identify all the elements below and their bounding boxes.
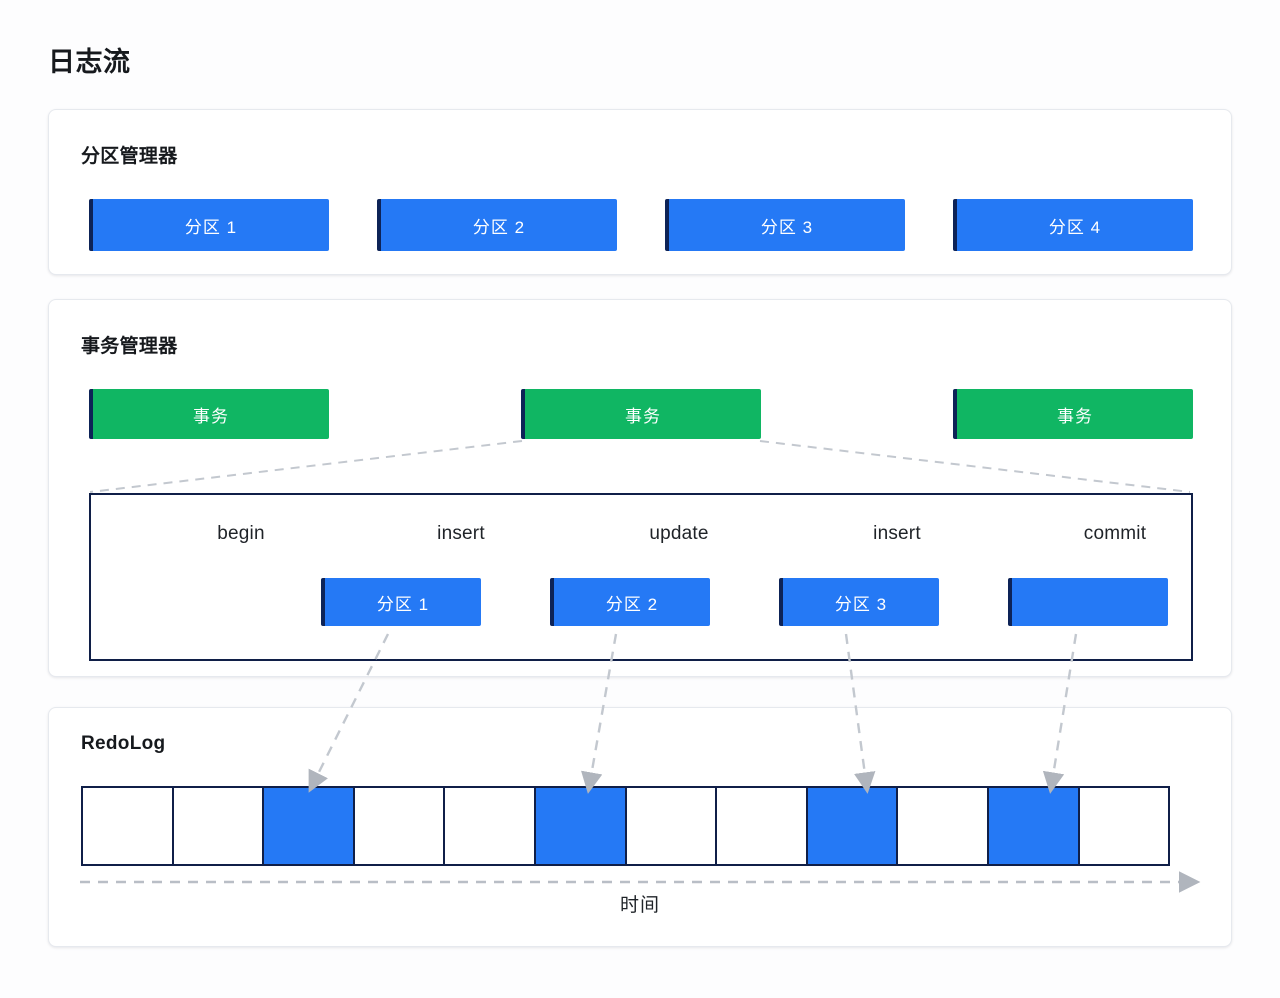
- transaction-box-1-label: 事务: [193, 402, 229, 427]
- partition-box-2-label: 分区 2: [473, 213, 525, 238]
- op-label-insert-2: insert: [787, 523, 1007, 545]
- transaction-box-3[interactable]: 事务: [953, 389, 1193, 439]
- transaction-box-3-label: 事务: [1057, 402, 1093, 427]
- redolog-cell[interactable]: [172, 786, 265, 866]
- redolog-cell[interactable]: [1078, 786, 1171, 866]
- transaction-manager-title: 事务管理器: [81, 331, 178, 358]
- redolog-cell[interactable]: [534, 786, 627, 866]
- redolog-cell[interactable]: [987, 786, 1080, 866]
- transaction-box-2[interactable]: 事务: [521, 389, 761, 439]
- partition-box-1[interactable]: 分区 1: [89, 199, 329, 251]
- op-partition-box-update-label: 分区 2: [606, 590, 658, 615]
- redolog-cell[interactable]: [896, 786, 989, 866]
- partition-manager-title: 分区管理器: [81, 141, 178, 168]
- op-partition-box-insert-2-label: 分区 3: [835, 590, 887, 615]
- op-label-insert-1: insert: [351, 523, 571, 545]
- op-partition-box-update[interactable]: 分区 2: [550, 578, 710, 626]
- partition-manager-card: 分区管理器 分区 1 分区 2 分区 3 分区 4: [48, 109, 1232, 275]
- partition-box-1-label: 分区 1: [185, 213, 237, 238]
- partition-box-3-label: 分区 3: [761, 213, 813, 238]
- redolog-strip: [81, 786, 1168, 866]
- redolog-cell[interactable]: [715, 786, 808, 866]
- transaction-manager-card: 事务管理器 事务 事务 事务 begin insert update inser…: [48, 299, 1232, 677]
- op-label-update: update: [569, 523, 789, 545]
- redolog-cell[interactable]: [806, 786, 899, 866]
- op-label-begin: begin: [131, 523, 351, 545]
- transaction-box-2-label: 事务: [625, 402, 661, 427]
- redolog-title: RedoLog: [81, 733, 165, 755]
- op-label-commit: commit: [1005, 523, 1225, 545]
- op-partition-box-insert-2[interactable]: 分区 3: [779, 578, 939, 626]
- time-axis-label: 时间: [49, 890, 1231, 917]
- partition-box-2[interactable]: 分区 2: [377, 199, 617, 251]
- op-partition-box-insert-1[interactable]: 分区 1: [321, 578, 481, 626]
- redolog-card: RedoLog 时间: [48, 707, 1232, 947]
- partition-box-3[interactable]: 分区 3: [665, 199, 905, 251]
- transaction-box-1[interactable]: 事务: [89, 389, 329, 439]
- redolog-cell[interactable]: [262, 786, 355, 866]
- redolog-cell[interactable]: [625, 786, 718, 866]
- partition-box-4-label: 分区 4: [1049, 213, 1101, 238]
- partition-box-4[interactable]: 分区 4: [953, 199, 1193, 251]
- transaction-detail-panel: begin insert update insert commit 分区 1 分…: [89, 493, 1193, 661]
- op-partition-box-commit[interactable]: [1008, 578, 1168, 626]
- redolog-cell[interactable]: [443, 786, 536, 866]
- redolog-cell[interactable]: [353, 786, 446, 866]
- op-partition-box-insert-1-label: 分区 1: [377, 590, 429, 615]
- page-title: 日志流: [48, 40, 131, 79]
- redolog-cell[interactable]: [81, 786, 174, 866]
